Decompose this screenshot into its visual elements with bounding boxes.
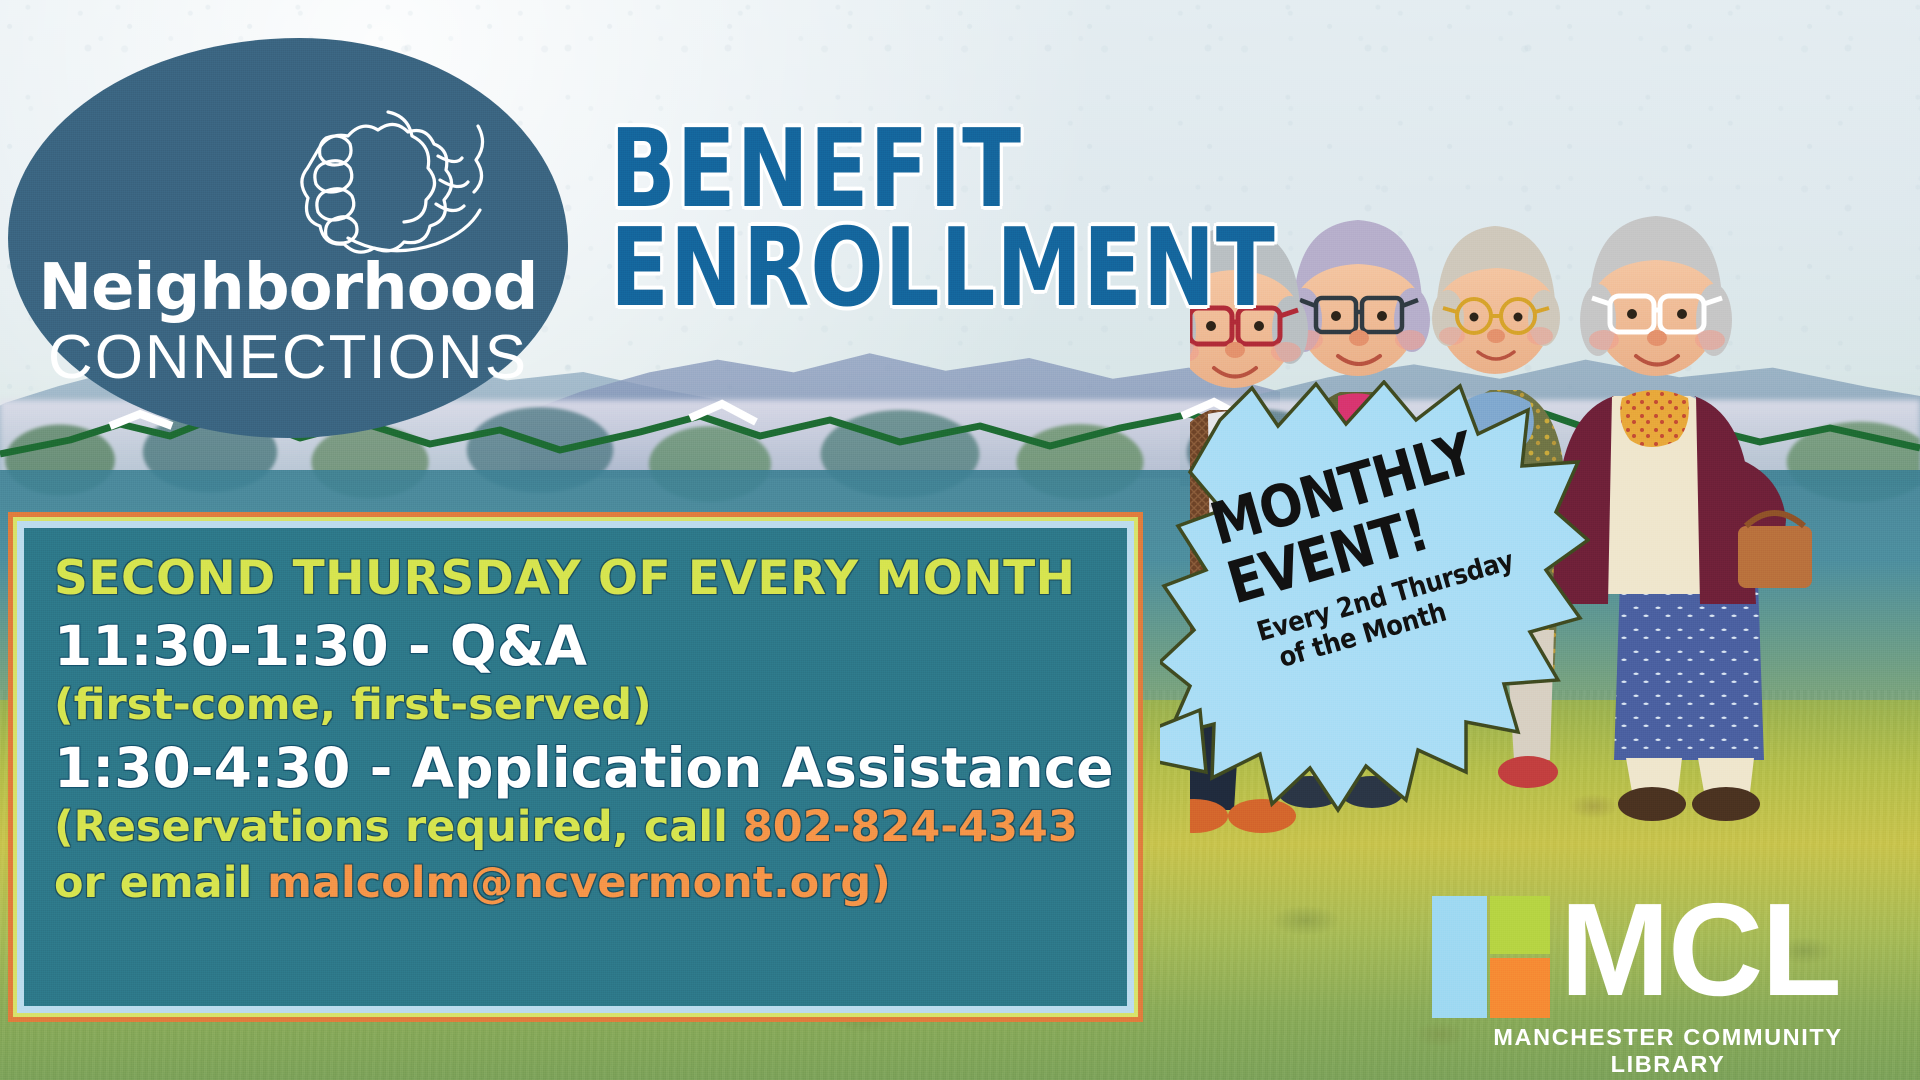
mcl-wordmark: MCL [1560, 884, 1840, 1016]
closing-paren: ) [871, 858, 891, 908]
mcl-swatch-blue [1432, 896, 1487, 1018]
phone-number[interactable]: 802-824-4343 [743, 802, 1078, 852]
event-line-email: or email malcolm@ncvermont.org) [54, 860, 1097, 906]
email-prefix: or email [54, 858, 267, 908]
logo-wordmark: Neighborhood CONNECTIONS [8, 256, 568, 392]
mcl-swatch-orange [1490, 958, 1550, 1018]
speech-bubble: MONTHLY EVENT! Every 2nd Thursday of the… [1160, 380, 1590, 830]
headline-line-2: ENROLLMENT [610, 219, 1122, 318]
figure-maroon-cardigan [1552, 216, 1812, 821]
logo-name-line2: CONNECTIONS [8, 324, 568, 392]
mcl-logo: MCL MANCHESTER COMMUNITY LIBRARY [1432, 888, 1902, 1053]
mcl-color-blocks-icon [1432, 896, 1550, 1018]
page-title: BENEFIT ENROLLMENT [610, 120, 1122, 319]
event-schedule-heading: SECOND THURSDAY OF EVERY MONTH [54, 554, 1097, 605]
reservations-prefix: (Reservations required, call [54, 802, 743, 852]
logo-name-line1: Neighborhood [8, 256, 568, 320]
mcl-swatch-green [1490, 896, 1550, 954]
flyer-canvas: MONTHLY EVENT! Every 2nd Thursday of the… [0, 0, 1920, 1080]
email-address[interactable]: malcolm@ncvermont.org [267, 858, 871, 908]
event-details-panel: SECOND THURSDAY OF EVERY MONTH 11:30-1:3… [8, 512, 1143, 1022]
event-line-first-come: (first-come, first-served) [54, 682, 1097, 728]
event-details-inner: SECOND THURSDAY OF EVERY MONTH 11:30-1:3… [17, 521, 1134, 1013]
mcl-tagline: MANCHESTER COMMUNITY LIBRARY [1434, 1024, 1902, 1078]
event-line-qa: 11:30-1:30 - Q&A [54, 617, 1097, 676]
neighborhood-connections-logo: Neighborhood CONNECTIONS [8, 38, 568, 438]
event-line-reservations: (Reservations required, call 802-824-434… [54, 804, 1097, 850]
event-line-application-assistance: 1:30-4:30 - Application Assistance [54, 739, 1097, 798]
